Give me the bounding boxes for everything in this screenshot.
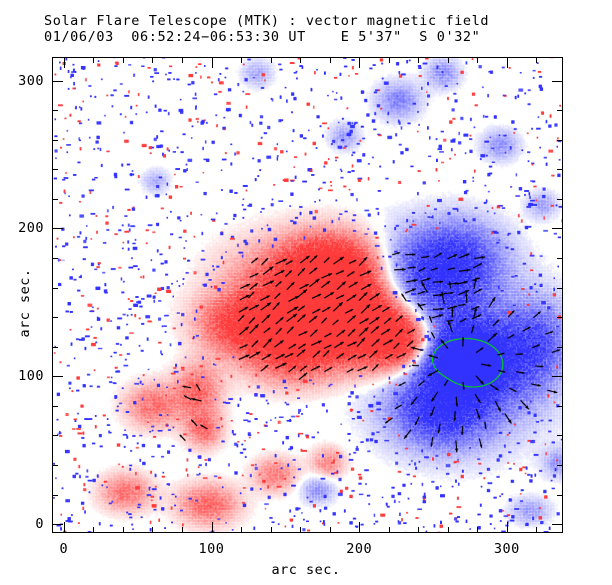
x-tick-top-240: [418, 57, 419, 63]
title-line-2: 01/06/03 06:52:24−06:53:30 UT E 5'37" S …: [44, 30, 584, 45]
x-tick-label-100: 100: [199, 541, 225, 557]
x-tick-top-200: [359, 57, 360, 68]
x-tick-top-20: [93, 57, 94, 63]
x-tick-80: [182, 527, 183, 533]
x-tick-240: [418, 527, 419, 533]
y-tick-right-20: [557, 495, 563, 496]
magnetogram-figure: Solar Flare Telescope (MTK) : vector mag…: [0, 0, 612, 585]
y-tick-140: [52, 317, 58, 318]
y-tick-right-40: [557, 465, 563, 466]
y-tick-80: [52, 406, 58, 407]
y-tick-180: [52, 258, 58, 259]
x-tick-300: [507, 522, 508, 533]
y-tick-label-0: 0: [0, 516, 44, 532]
x-tick-label-300: 300: [494, 541, 520, 557]
x-tick-100: [212, 522, 213, 533]
x-tick-top-120: [241, 57, 242, 63]
x-tick-140: [271, 527, 272, 533]
x-tick-top-300: [507, 57, 508, 68]
x-tick-top-320: [536, 57, 537, 63]
x-tick-top-40: [123, 57, 124, 63]
y-tick-0: [52, 524, 63, 525]
x-tick-label-0: 0: [59, 541, 68, 557]
y-tick-right-160: [557, 288, 563, 289]
x-tick-top-0: [64, 57, 65, 68]
x-tick-label-200: 200: [346, 541, 372, 557]
y-tick-220: [52, 199, 58, 200]
x-tick-0: [64, 522, 65, 533]
x-tick-top-140: [271, 57, 272, 63]
y-tick-60: [52, 435, 58, 436]
y-tick-label-100: 100: [0, 368, 44, 384]
x-tick-top-80: [182, 57, 183, 63]
x-tick-160: [300, 527, 301, 533]
x-tick-top-260: [448, 57, 449, 63]
y-tick-280: [52, 110, 58, 111]
x-tick-280: [477, 527, 478, 533]
y-tick-right-180: [557, 258, 563, 259]
y-tick-right-120: [557, 347, 563, 348]
y-tick-right-140: [557, 317, 563, 318]
x-tick-60: [152, 527, 153, 533]
y-tick-right-80: [557, 406, 563, 407]
y-tick-100: [52, 376, 63, 377]
magnetogram-canvas: [53, 58, 562, 532]
x-tick-top-160: [300, 57, 301, 63]
y-tick-right-100: [552, 376, 563, 377]
title-line-1: Solar Flare Telescope (MTK) : vector mag…: [44, 14, 584, 29]
y-tick-label-200: 200: [0, 220, 44, 236]
y-tick-300: [52, 81, 63, 82]
x-tick-20: [93, 527, 94, 533]
x-tick-220: [389, 527, 390, 533]
x-tick-260: [448, 527, 449, 533]
y-tick-right-200: [552, 228, 563, 229]
x-tick-top-280: [477, 57, 478, 63]
plot-area: [52, 57, 563, 533]
x-tick-top-100: [212, 57, 213, 68]
y-tick-40: [52, 465, 58, 466]
x-axis-title: arc sec.: [0, 562, 612, 578]
figure-title: Solar Flare Telescope (MTK) : vector mag…: [44, 14, 584, 45]
x-tick-120: [241, 527, 242, 533]
y-tick-260: [52, 140, 58, 141]
y-tick-right-0: [552, 524, 563, 525]
y-tick-120: [52, 347, 58, 348]
x-tick-top-220: [389, 57, 390, 63]
y-tick-label-300: 300: [0, 73, 44, 89]
y-tick-240: [52, 169, 58, 170]
y-tick-right-260: [557, 140, 563, 141]
y-tick-right-220: [557, 199, 563, 200]
y-tick-right-240: [557, 169, 563, 170]
x-tick-40: [123, 527, 124, 533]
y-tick-right-300: [552, 81, 563, 82]
x-tick-200: [359, 522, 360, 533]
x-tick-top-60: [152, 57, 153, 63]
x-tick-320: [536, 527, 537, 533]
y-tick-20: [52, 495, 58, 496]
y-tick-200: [52, 228, 63, 229]
x-tick-180: [330, 527, 331, 533]
y-tick-right-280: [557, 110, 563, 111]
x-tick-top-180: [330, 57, 331, 63]
y-tick-right-60: [557, 435, 563, 436]
y-axis-title: arc sec.: [17, 258, 33, 348]
y-tick-160: [52, 288, 58, 289]
